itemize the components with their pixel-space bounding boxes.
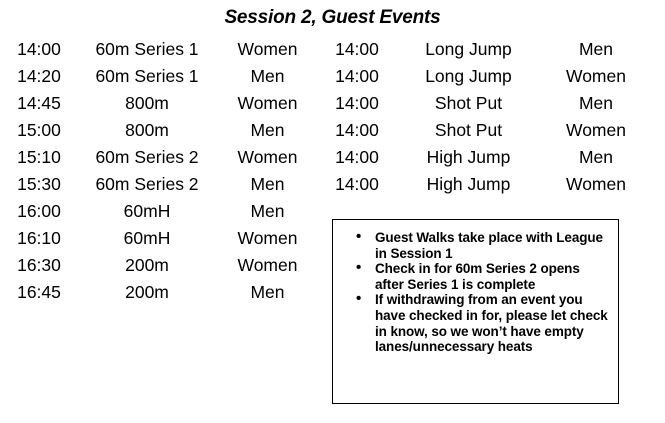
- right-time-cell: 14:00: [318, 36, 396, 63]
- right-gender-cell: Men: [541, 90, 651, 117]
- page-title: Session 2, Guest Events: [0, 7, 665, 29]
- left-time-cell: 16:45: [0, 279, 78, 306]
- table-row: 15:3060m Series 2Men: [0, 171, 319, 198]
- left-gender-cell: Women: [216, 90, 319, 117]
- left-time-cell: 16:10: [0, 225, 78, 252]
- table-row: 15:1060m Series 2Women: [0, 144, 319, 171]
- left-time-cell: 15:00: [0, 117, 78, 144]
- left-schedule-table: 14:0060m Series 1Women14:2060m Series 1M…: [0, 36, 319, 306]
- left-event-cell: 60m Series 1: [78, 63, 216, 90]
- left-time-cell: 14:00: [0, 36, 78, 63]
- left-event-cell: 60mH: [78, 198, 216, 225]
- left-event-cell: 800m: [78, 117, 216, 144]
- right-event-cell: High Jump: [396, 144, 541, 171]
- notes-list: •Guest Walks take place with League in S…: [333, 220, 618, 355]
- table-row: 14:00Long JumpWomen: [318, 63, 651, 90]
- left-event-cell: 200m: [78, 252, 216, 279]
- right-time-cell: 14:00: [318, 144, 396, 171]
- right-time-cell: 14:00: [318, 171, 396, 198]
- table-row: 14:00High JumpWomen: [318, 171, 651, 198]
- table-row: 15:00800mMen: [0, 117, 319, 144]
- left-gender-cell: Men: [216, 171, 319, 198]
- left-schedule-body: 14:0060m Series 1Women14:2060m Series 1M…: [0, 36, 319, 306]
- table-row: 14:00Shot PutMen: [318, 90, 651, 117]
- left-gender-cell: Women: [216, 252, 319, 279]
- right-event-cell: Long Jump: [396, 63, 541, 90]
- left-gender-cell: Women: [216, 144, 319, 171]
- table-row: 16:0060mHMen: [0, 198, 319, 225]
- left-event-cell: 800m: [78, 90, 216, 117]
- right-schedule-body: 14:00Long JumpMen14:00Long JumpWomen14:0…: [318, 36, 651, 198]
- left-gender-cell: Men: [216, 63, 319, 90]
- right-time-cell: 14:00: [318, 117, 396, 144]
- table-row: 14:0060m Series 1Women: [0, 36, 319, 63]
- right-event-cell: Long Jump: [396, 36, 541, 63]
- left-gender-cell: Men: [216, 117, 319, 144]
- bullet-icon: •: [356, 260, 361, 276]
- list-item: •Check in for 60m Series 2 opens after S…: [375, 261, 610, 292]
- list-item: •Guest Walks take place with League in S…: [375, 230, 610, 261]
- note-text: Check in for 60m Series 2 opens after Se…: [375, 261, 580, 292]
- right-gender-cell: Women: [541, 171, 651, 198]
- right-gender-cell: Men: [541, 36, 651, 63]
- left-time-cell: 14:45: [0, 90, 78, 117]
- left-time-cell: 15:30: [0, 171, 78, 198]
- left-event-cell: 60m Series 2: [78, 171, 216, 198]
- left-gender-cell: Women: [216, 225, 319, 252]
- table-row: 16:45200mMen: [0, 279, 319, 306]
- right-time-cell: 14:00: [318, 63, 396, 90]
- left-event-cell: 200m: [78, 279, 216, 306]
- left-time-cell: 16:30: [0, 252, 78, 279]
- right-gender-cell: Men: [541, 144, 651, 171]
- note-text: If withdrawing from an event you have ch…: [375, 292, 608, 354]
- table-row: 14:45800mWomen: [0, 90, 319, 117]
- left-event-cell: 60m Series 1: [78, 36, 216, 63]
- right-time-cell: 14:00: [318, 90, 396, 117]
- table-row: 14:2060m Series 1Men: [0, 63, 319, 90]
- list-item: •If withdrawing from an event you have c…: [375, 292, 610, 354]
- notes-box: •Guest Walks take place with League in S…: [332, 219, 619, 404]
- left-event-cell: 60m Series 2: [78, 144, 216, 171]
- right-event-cell: High Jump: [396, 171, 541, 198]
- right-gender-cell: Women: [541, 117, 651, 144]
- left-gender-cell: Women: [216, 36, 319, 63]
- left-gender-cell: Men: [216, 279, 319, 306]
- table-row: 14:00High JumpMen: [318, 144, 651, 171]
- right-schedule-table: 14:00Long JumpMen14:00Long JumpWomen14:0…: [318, 36, 651, 198]
- bullet-icon: •: [356, 291, 361, 307]
- left-event-cell: 60mH: [78, 225, 216, 252]
- left-gender-cell: Men: [216, 198, 319, 225]
- table-row: 16:30200mWomen: [0, 252, 319, 279]
- table-row: 14:00Shot PutWomen: [318, 117, 651, 144]
- table-row: 14:00Long JumpMen: [318, 36, 651, 63]
- schedule-page: Session 2, Guest Events 14:0060m Series …: [0, 0, 665, 423]
- bullet-icon: •: [356, 229, 361, 245]
- note-text: Guest Walks take place with League in Se…: [375, 230, 603, 261]
- table-row: 16:1060mHWomen: [0, 225, 319, 252]
- left-time-cell: 14:20: [0, 63, 78, 90]
- right-gender-cell: Women: [541, 63, 651, 90]
- left-time-cell: 16:00: [0, 198, 78, 225]
- right-event-cell: Shot Put: [396, 117, 541, 144]
- left-time-cell: 15:10: [0, 144, 78, 171]
- right-event-cell: Shot Put: [396, 90, 541, 117]
